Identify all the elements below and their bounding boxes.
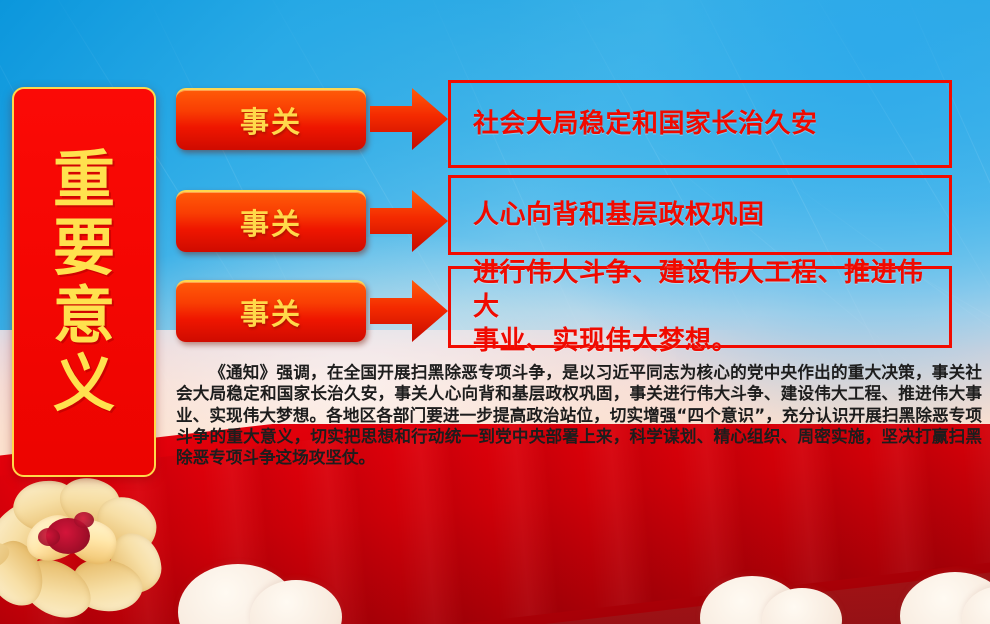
- point-box-line: 社会大局稳定和国家长治久安: [473, 107, 818, 141]
- right-arrow-icon: [370, 278, 448, 344]
- title-char-3: 意: [53, 285, 115, 347]
- shiguan-pill-label-1: 事关: [240, 99, 302, 141]
- slide-canvas: 重 要 意 义 事关 社会大局稳定和国家长治久安 事关: [0, 0, 990, 624]
- point-box-2: 人心向背和基层政权巩固: [448, 175, 952, 255]
- golden-peony-icon: [0, 472, 210, 622]
- title-char-1: 重: [53, 149, 115, 211]
- point-box-3: 进行伟大斗争、建设伟大工程、推进伟大 事业、实现伟大梦想。: [448, 266, 952, 348]
- point-box-text-1: 社会大局稳定和国家长治久安: [473, 107, 818, 141]
- title-char-4: 义: [53, 353, 115, 415]
- point-box-line: 进行伟大斗争、建设伟大工程、推进伟大: [473, 256, 949, 325]
- right-arrow-icon: [370, 188, 448, 254]
- shiguan-pill-1[interactable]: 事关: [176, 88, 366, 150]
- title-char-2: 要: [53, 217, 115, 279]
- shiguan-pill-3[interactable]: 事关: [176, 280, 366, 342]
- right-arrow-icon: [370, 86, 448, 152]
- point-box-line: 事业、实现伟大梦想。: [473, 324, 949, 358]
- point-box-line: 人心向背和基层政权巩固: [473, 198, 765, 232]
- shiguan-pill-label-3: 事关: [240, 291, 302, 333]
- notice-paragraph: 《通知》强调，在全国开展扫黑除恶专项斗争，是以习近平同志为核心的党中央作出的重大…: [176, 362, 982, 468]
- point-box-text-3: 进行伟大斗争、建设伟大工程、推进伟大 事业、实现伟大梦想。: [473, 256, 949, 359]
- shiguan-pill-label-2: 事关: [240, 201, 302, 243]
- important-significance-title-panel: 重 要 意 义: [12, 87, 156, 477]
- point-box-text-2: 人心向背和基层政权巩固: [473, 198, 765, 232]
- point-box-1: 社会大局稳定和国家长治久安: [448, 80, 952, 168]
- shiguan-pill-2[interactable]: 事关: [176, 190, 366, 252]
